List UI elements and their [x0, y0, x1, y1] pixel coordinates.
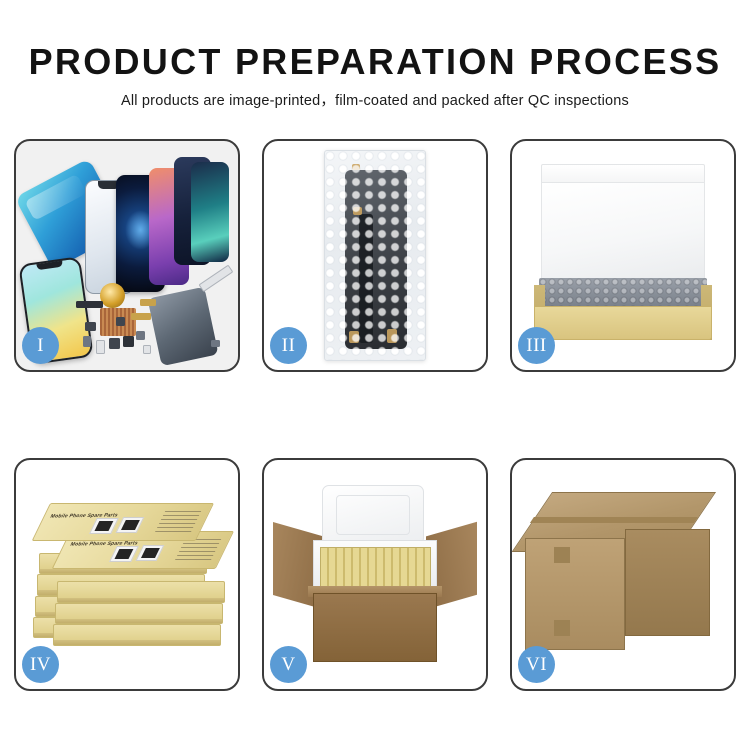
white-foam-sheet-icon — [541, 182, 705, 285]
bubble-wrap-bag-icon — [324, 150, 426, 361]
tweezers-icon — [199, 265, 234, 292]
styrofoam-lid-icon — [322, 485, 424, 545]
box-product-swatch — [136, 545, 165, 561]
packed-boxes-icon — [320, 547, 431, 588]
page-title: PRODUCT PREPARATION PROCESS — [0, 41, 750, 83]
panel-foam-lined-box[interactable]: III — [510, 139, 736, 372]
panel-sealed-carton[interactable]: VI — [510, 458, 736, 691]
component-part-icon — [143, 345, 152, 354]
component-part-icon — [83, 336, 92, 347]
box-product-swatch — [109, 547, 138, 563]
box-product-swatch — [90, 518, 119, 534]
panel-carton-with-foam-liner[interactable]: V — [262, 458, 488, 691]
panel-parts-overview[interactable]: I — [14, 139, 240, 372]
component-part-icon — [123, 336, 134, 347]
tape-icon — [353, 207, 362, 214]
step-badge: II — [270, 327, 307, 364]
component-part-icon — [116, 317, 125, 326]
tape-icon — [352, 164, 360, 170]
carton-tape-seam-icon — [530, 517, 698, 523]
box-stack: Mobile Phone Spare Parts Mobile Phone Sp… — [29, 492, 224, 671]
component-part-icon — [96, 340, 105, 354]
product-preparation-infographic: PRODUCT PREPARATION PROCESS All products… — [0, 0, 750, 750]
component-part-icon — [131, 313, 151, 320]
step-badge: I — [22, 327, 59, 364]
page-subtitle: All products are image-printed，film-coat… — [0, 91, 750, 111]
lcd-screen-icon — [345, 170, 407, 349]
box-spec-lines — [156, 511, 202, 532]
tape-icon — [349, 331, 359, 344]
gold-coil-icon — [100, 283, 124, 308]
box-top-face: Mobile Phone Spare Parts — [32, 503, 214, 541]
component-part-icon — [76, 301, 103, 308]
component-part-icon — [136, 331, 145, 340]
step-badge: IV — [22, 646, 59, 683]
teal-phone-icon — [191, 162, 229, 263]
carton-tab-icon — [554, 620, 570, 636]
phone-backplate-icon — [147, 287, 218, 366]
box-product-swatch — [116, 517, 145, 533]
kraft-box-front-icon — [534, 306, 712, 340]
header: PRODUCT PREPARATION PROCESS All products… — [0, 0, 750, 111]
step-badge: VI — [518, 646, 555, 683]
panel-stacked-retail-boxes[interactable]: Mobile Phone Spare Parts Mobile Phone Sp… — [14, 458, 240, 691]
panel-bubble-wrapped-screen[interactable]: II — [262, 139, 488, 372]
process-step-grid: I II — [14, 139, 736, 691]
component-part-icon — [140, 299, 156, 306]
carton-front-icon — [313, 593, 437, 662]
step-badge: III — [518, 327, 555, 364]
carton-side-icon — [625, 529, 709, 637]
carton-front-icon — [525, 538, 625, 650]
tape-icon — [387, 329, 397, 344]
step-badge: V — [270, 646, 307, 683]
component-part-icon — [85, 322, 96, 331]
component-part-icon — [211, 340, 220, 347]
carton-tab-icon — [554, 547, 570, 563]
flex-cable-icon — [359, 214, 373, 343]
component-part-icon — [109, 338, 120, 349]
box-spec-lines — [175, 539, 221, 560]
